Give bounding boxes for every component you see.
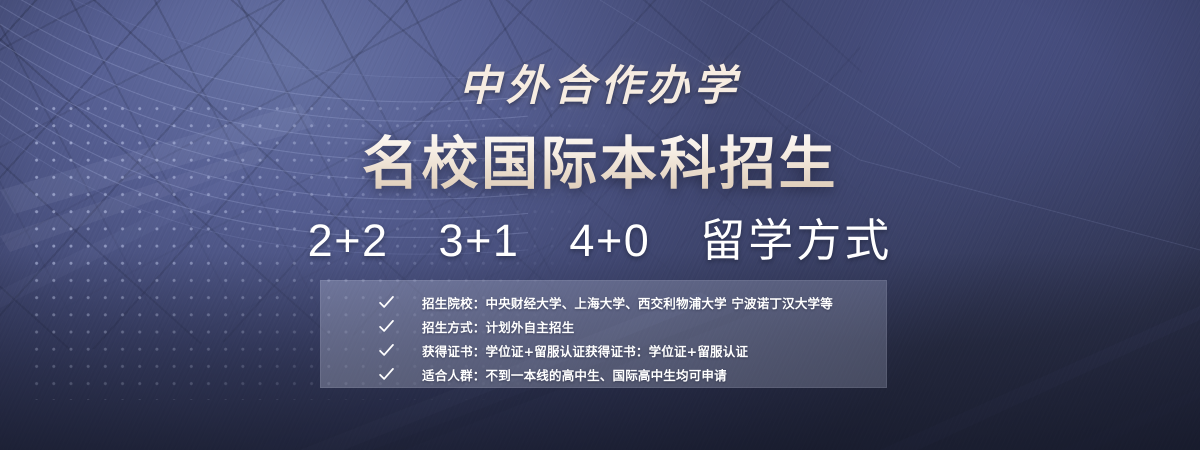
check-icon (378, 342, 395, 359)
banner-content: 中外合作办学 名校国际本科招生 2+2 3+1 4+0 留学方式 招生院校：中央… (0, 0, 1200, 450)
study-abroad-label: 留学方式 (700, 215, 892, 266)
promo-banner: 中外合作办学 名校国际本科招生 2+2 3+1 4+0 留学方式 招生院校：中央… (0, 0, 1200, 450)
list-item-label: 招生院校：中央财经大学、上海大学、西交利物浦大学 宁波诺丁汉大学等 (422, 293, 833, 312)
kicker-headline: 中外合作办学 (0, 52, 1200, 113)
study-mode-4plus0: 4+0 (569, 215, 650, 266)
list-item: 招生方式：计划外自主招生 (320, 314, 887, 338)
list-item: 获得证书：学位证+留服认证获得证书：学位证+留服认证 (320, 338, 887, 362)
main-headline: 名校国际本科招生 (0, 118, 1200, 200)
list-item: 适合人群：不到一本线的高中生、国际高中生均可申请 (320, 362, 887, 386)
study-mode-2plus2: 2+2 (308, 215, 389, 266)
list-item-label: 获得证书：学位证+留服认证获得证书：学位证+留服认证 (422, 341, 748, 360)
check-icon (378, 294, 395, 311)
check-icon (378, 366, 395, 383)
list-item-label: 招生方式：计划外自主招生 (422, 317, 574, 336)
feature-list-panel: 招生院校：中央财经大学、上海大学、西交利物浦大学 宁波诺丁汉大学等 招生方式：计… (320, 280, 887, 388)
check-icon (378, 318, 395, 335)
study-mode-headline: 2+2 3+1 4+0 留学方式 (0, 204, 1200, 269)
list-item-label: 适合人群：不到一本线的高中生、国际高中生均可申请 (422, 365, 727, 384)
study-mode-3plus1: 3+1 (439, 215, 520, 266)
list-item: 招生院校：中央财经大学、上海大学、西交利物浦大学 宁波诺丁汉大学等 (320, 290, 887, 314)
